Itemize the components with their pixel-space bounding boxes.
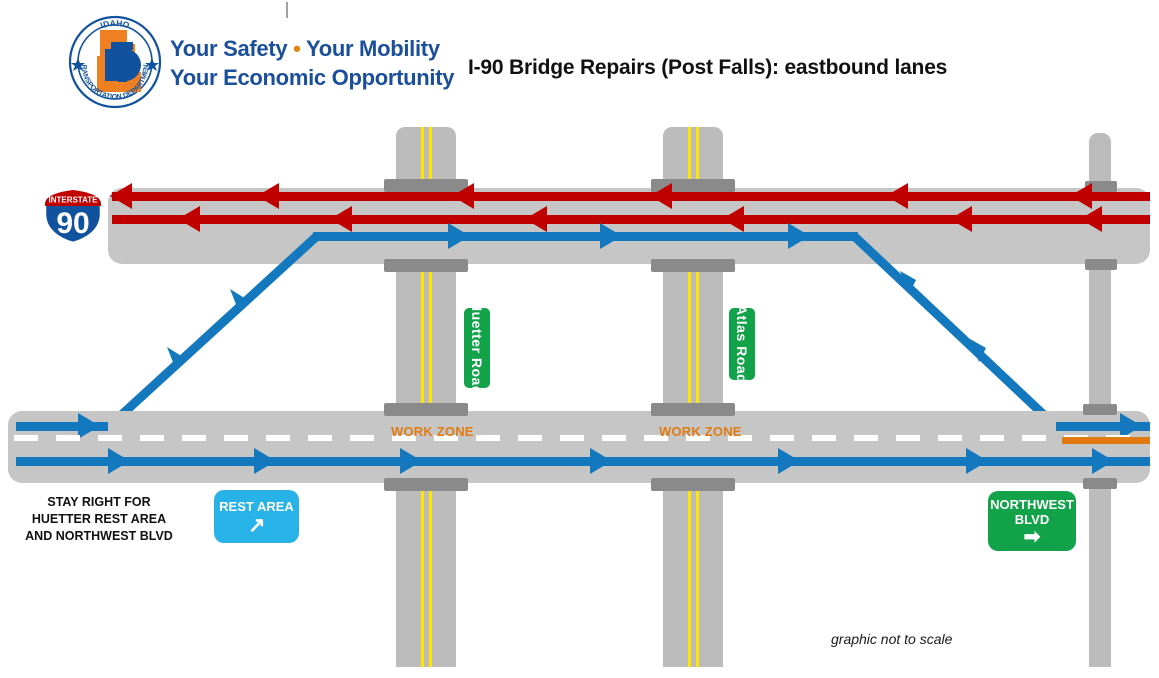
- arrow-right-icon: ➡: [1024, 529, 1041, 545]
- tagline-your-safety: Your Safety: [170, 36, 287, 61]
- arrow-right-icon: [400, 448, 422, 474]
- arrow-left-icon: [525, 206, 547, 232]
- bridge-abutment: [651, 259, 735, 272]
- work-zone-label-atlas: WORK ZONE: [659, 424, 742, 439]
- stay-right-line-1: STAY RIGHT FOR: [14, 494, 184, 511]
- arrow-right-icon: [966, 448, 988, 474]
- arrow-left-icon: [650, 183, 672, 209]
- lane-divider-dashed: [14, 435, 1144, 441]
- arrow-left-icon: [330, 206, 352, 232]
- tagline-line-1: Your Safety • Your Mobility: [170, 34, 430, 63]
- arrow-right-icon: [448, 223, 470, 249]
- street-sign-huetter-label: Huetter Road: [469, 301, 485, 395]
- interstate-90-shield: INTERSTATE 90: [41, 186, 105, 246]
- sign-rest-area[interactable]: REST AREA ↗: [214, 490, 299, 543]
- work-zone-label-huetter: WORK ZONE: [391, 424, 474, 439]
- bridge-abutment: [651, 403, 735, 416]
- traffic-diagram-page: IDAHO TRANSPORTATION DEPARTMENT Your Saf…: [0, 0, 1159, 678]
- shield-banner-text: INTERSTATE: [48, 196, 98, 205]
- tagline-your-mobility: Your Mobility: [306, 36, 440, 61]
- stay-right-instruction: STAY RIGHT FOR HUETTER REST AREA AND NOR…: [14, 494, 184, 545]
- arrow-left-icon: [1080, 206, 1102, 232]
- arrow-left-icon: [110, 183, 132, 209]
- top-tick-mark: [286, 2, 288, 18]
- bridge-abutment: [651, 478, 735, 491]
- arrow-right-icon: [600, 223, 622, 249]
- tagline-line-2: Your Economic Opportunity: [170, 63, 430, 92]
- arrow-right-icon: [778, 448, 800, 474]
- northwest-blvd-label-line1: NORTHWEST: [990, 497, 1074, 512]
- arrow-left-icon: [722, 206, 744, 232]
- tagline-separator-dot: •: [293, 36, 300, 61]
- arrow-right-icon: [108, 448, 130, 474]
- arrow-right-icon: [788, 223, 810, 249]
- bridge-abutment: [384, 259, 468, 272]
- itd-logo: IDAHO TRANSPORTATION DEPARTMENT: [55, 14, 175, 110]
- stay-right-line-2: HUETTER REST AREA: [14, 511, 184, 528]
- stay-right-line-3: AND NORTHWEST BLVD: [14, 528, 184, 545]
- rest-area-label: REST AREA: [219, 499, 294, 514]
- northwest-blvd-label-line2: BLVD: [1015, 512, 1049, 527]
- arrow-left-icon: [257, 183, 279, 209]
- sign-northwest-blvd[interactable]: NORTHWEST BLVD ➡: [988, 491, 1076, 551]
- arrow-right-icon: [590, 448, 612, 474]
- arrow-left-icon: [178, 206, 200, 232]
- arrow-left-icon: [886, 183, 908, 209]
- westbound-lane-line-2: [112, 215, 1150, 224]
- shield-route-number: 90: [56, 207, 89, 240]
- bridge-abutment: [1083, 478, 1117, 489]
- eastbound-detour-line: [313, 232, 858, 241]
- bridge-abutment: [384, 403, 468, 416]
- arrow-left-icon: [950, 206, 972, 232]
- arrow-right-icon: [254, 448, 276, 474]
- bridge-abutment: [384, 478, 468, 491]
- bridge-abutment: [1085, 259, 1117, 270]
- arrow-right-icon: [1092, 448, 1114, 474]
- scale-disclaimer: graphic not to scale: [831, 631, 952, 647]
- bridge-abutment: [1083, 404, 1117, 415]
- page-title: I-90 Bridge Repairs (Post Falls): eastbo…: [468, 56, 947, 80]
- work-zone-barrier: [1062, 437, 1150, 444]
- street-sign-atlas-label: Atlas Road: [734, 305, 750, 383]
- arrow-up-right-icon: ↗: [247, 516, 265, 535]
- street-sign-atlas-road[interactable]: Atlas Road: [729, 308, 755, 380]
- agency-tagline: Your Safety • Your Mobility Your Economi…: [170, 34, 430, 92]
- street-sign-huetter-road[interactable]: Huetter Road: [464, 308, 490, 388]
- arrow-left-icon: [452, 183, 474, 209]
